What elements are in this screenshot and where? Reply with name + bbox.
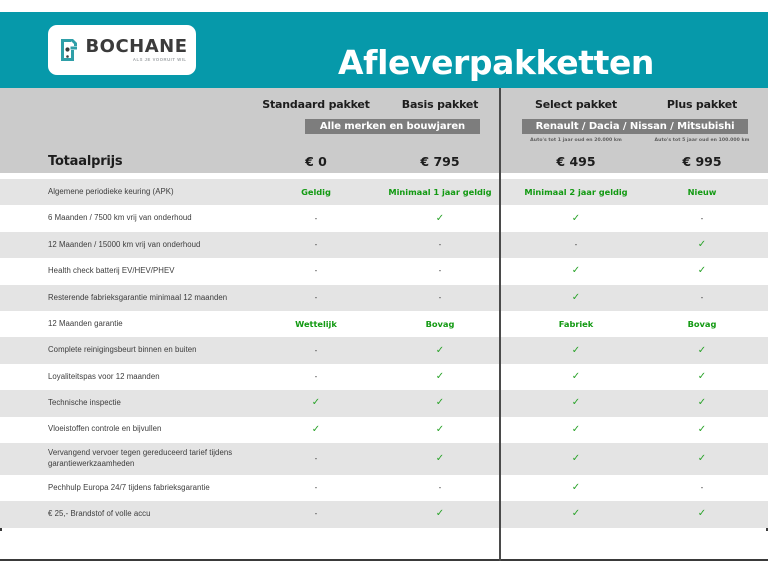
- table-row: Vloeistoffen controle en bijvullen✓✓✓✓: [0, 417, 768, 443]
- check-icon: ✓: [698, 509, 706, 519]
- check-icon: ✓: [698, 346, 706, 356]
- cell-plus: ✓: [640, 232, 764, 258]
- dash-icon: -: [315, 294, 318, 302]
- table-row: Complete reinigingsbeurt binnen en buite…: [0, 337, 768, 363]
- table-row: € 25,- Brandstof of volle accu-✓✓✓: [0, 501, 768, 527]
- cell-standaard: -: [252, 258, 380, 284]
- check-icon: ✓: [572, 425, 580, 435]
- cell-text: Minimaal 2 jaar geldig: [524, 187, 627, 197]
- dash-icon: -: [315, 484, 318, 492]
- total-price-select: € 495: [512, 150, 640, 173]
- cell-select: ✓: [512, 475, 640, 501]
- cell-plus: Bovag: [640, 311, 764, 337]
- table-row: Loyaliteitspas voor 12 maanden-✓✓✓: [0, 364, 768, 390]
- cell-basis: -: [380, 285, 500, 311]
- row-label: 12 Maanden / 15000 km vrij van onderhoud: [48, 232, 248, 258]
- check-icon: ✓: [436, 372, 444, 382]
- cell-standaard: -: [252, 443, 380, 475]
- check-icon: ✓: [698, 454, 706, 464]
- logo-wordmark: BOCHANE: [85, 38, 187, 56]
- cell-basis: -: [380, 475, 500, 501]
- check-icon: ✓: [312, 398, 320, 408]
- table-row: Algemene periodieke keuring (APK)GeldigM…: [0, 179, 768, 205]
- check-icon: ✓: [698, 240, 706, 250]
- row-label: Complete reinigingsbeurt binnen en buite…: [48, 337, 248, 363]
- row-label: Health check batterij EV/HEV/PHEV: [48, 258, 248, 284]
- cell-plus: ✓: [640, 443, 764, 475]
- dash-icon: -: [315, 373, 318, 381]
- cell-text: Wettelijk: [295, 319, 337, 329]
- total-price-label: Totaalprijs: [48, 150, 122, 173]
- row-label: Loyaliteitspas voor 12 maanden: [48, 364, 248, 390]
- cell-text: Fabriek: [559, 319, 593, 329]
- table-body: Algemene periodieke keuring (APK)GeldigM…: [0, 179, 768, 528]
- dash-icon: -: [439, 267, 442, 275]
- check-icon: ✓: [572, 454, 580, 464]
- cell-basis: ✓: [380, 390, 500, 416]
- check-icon: ✓: [572, 398, 580, 408]
- cell-standaard: Geldig: [252, 179, 380, 205]
- cell-text: Nieuw: [688, 187, 717, 197]
- dash-icon: -: [575, 241, 578, 249]
- check-icon: ✓: [572, 509, 580, 519]
- row-label: Resterende fabrieksgarantie minimaal 12 …: [48, 285, 248, 311]
- cell-select: Fabriek: [512, 311, 640, 337]
- column-header-plus: Plus pakket: [640, 98, 764, 111]
- row-label: Pechhulp Europa 24/7 tijdens fabrieksgar…: [48, 475, 248, 501]
- dash-icon: -: [701, 215, 704, 223]
- table-row: 6 Maanden / 7500 km vrij van onderhoud-✓…: [0, 205, 768, 231]
- cell-text: Bovag: [688, 319, 717, 329]
- total-price-row: Totaalprijs € 0 € 795 € 495 € 995: [0, 150, 768, 173]
- row-label: Algemene periodieke keuring (APK): [48, 179, 248, 205]
- cell-basis: -: [380, 232, 500, 258]
- check-icon: ✓: [436, 214, 444, 224]
- column-header-standaard: Standaard pakket: [252, 98, 380, 111]
- cell-plus: ✓: [640, 501, 764, 527]
- cell-select: ✓: [512, 501, 640, 527]
- cell-basis: ✓: [380, 337, 500, 363]
- cell-basis: ✓: [380, 364, 500, 390]
- cell-plus: ✓: [640, 258, 764, 284]
- row-label: Technische inspectie: [48, 390, 248, 416]
- check-icon: ✓: [436, 398, 444, 408]
- check-icon: ✓: [572, 483, 580, 493]
- dash-icon: -: [439, 241, 442, 249]
- dash-icon: -: [315, 455, 318, 463]
- cell-select: ✓: [512, 285, 640, 311]
- cell-select: ✓: [512, 205, 640, 231]
- dash-icon: -: [315, 510, 318, 518]
- check-icon: ✓: [698, 266, 706, 276]
- cell-basis: ✓: [380, 443, 500, 475]
- cell-select: ✓: [512, 390, 640, 416]
- cell-plus: ✓: [640, 364, 764, 390]
- check-icon: ✓: [572, 372, 580, 382]
- check-icon: ✓: [572, 293, 580, 303]
- cell-select: ✓: [512, 337, 640, 363]
- check-icon: ✓: [436, 509, 444, 519]
- cell-standaard: Wettelijk: [252, 311, 380, 337]
- dash-icon: -: [315, 347, 318, 355]
- cell-plus: ✓: [640, 390, 764, 416]
- cell-select: -: [512, 232, 640, 258]
- check-icon: ✓: [572, 346, 580, 356]
- table-row: Health check batterij EV/HEV/PHEV--✓✓: [0, 258, 768, 284]
- dash-icon: -: [701, 294, 704, 302]
- check-icon: ✓: [572, 214, 580, 224]
- check-icon: ✓: [312, 425, 320, 435]
- dash-icon: -: [439, 484, 442, 492]
- total-price-basis: € 795: [380, 150, 500, 173]
- table-row: 12 Maanden garantieWettelijkBovagFabriek…: [0, 311, 768, 337]
- row-label: 6 Maanden / 7500 km vrij van onderhoud: [48, 205, 248, 231]
- group-label-merken-renault: Renault / Dacia / Nissan / Mitsubishi: [522, 119, 748, 134]
- cell-standaard: ✓: [252, 390, 380, 416]
- cell-plus: -: [640, 205, 764, 231]
- table-header: Standaard pakket Basis pakket Select pak…: [0, 88, 768, 173]
- check-icon: ✓: [436, 425, 444, 435]
- cell-standaard: -: [252, 475, 380, 501]
- row-label: Vervangend vervoer tegen gereduceerd tar…: [48, 443, 248, 475]
- check-icon: ✓: [572, 266, 580, 276]
- cell-plus: -: [640, 285, 764, 311]
- cell-text: Geldig: [301, 187, 331, 197]
- cell-select: Minimaal 2 jaar geldig: [512, 179, 640, 205]
- check-icon: ✓: [698, 398, 706, 408]
- table-row: Pechhulp Europa 24/7 tijdens fabrieksgar…: [0, 475, 768, 501]
- header-banner: BOCHANE ALS JE VOORUIT WIL Afleverpakket…: [0, 12, 768, 88]
- cell-select: ✓: [512, 417, 640, 443]
- dash-icon: -: [315, 215, 318, 223]
- bochane-logo: BOCHANE ALS JE VOORUIT WIL: [48, 25, 196, 75]
- check-icon: ✓: [436, 454, 444, 464]
- cell-plus: ✓: [640, 417, 764, 443]
- table-row: Resterende fabrieksgarantie minimaal 12 …: [0, 285, 768, 311]
- cell-basis: Bovag: [380, 311, 500, 337]
- total-price-standaard: € 0: [252, 150, 380, 173]
- cell-plus: ✓: [640, 337, 764, 363]
- cell-text: Minimaal 1 jaar geldig: [388, 187, 491, 197]
- column-header-basis: Basis pakket: [380, 98, 500, 111]
- cell-standaard: -: [252, 337, 380, 363]
- cell-basis: ✓: [380, 501, 500, 527]
- table-row: Vervangend vervoer tegen gereduceerd tar…: [0, 443, 768, 475]
- dash-icon: -: [701, 484, 704, 492]
- cell-standaard: -: [252, 285, 380, 311]
- cell-select: ✓: [512, 258, 640, 284]
- check-icon: ✓: [698, 372, 706, 382]
- cell-plus: Nieuw: [640, 179, 764, 205]
- table-row: Technische inspectie✓✓✓✓: [0, 390, 768, 416]
- column-note-plus: Auto's tot 5 jaar oud en 100.000 km: [640, 138, 764, 143]
- dash-icon: -: [315, 241, 318, 249]
- dash-icon: -: [315, 267, 318, 275]
- afleverpakketten-sheet: BOCHANE ALS JE VOORUIT WIL Afleverpakket…: [0, 0, 768, 576]
- row-label: € 25,- Brandstof of volle accu: [48, 501, 248, 527]
- table-bottom-gap: [0, 531, 768, 559]
- group-label-alle-merken: Alle merken en bouwjaren: [305, 119, 480, 134]
- cell-select: ✓: [512, 364, 640, 390]
- package-group-divider: [499, 88, 501, 561]
- column-headers: Standaard pakket Basis pakket Select pak…: [0, 98, 768, 114]
- cell-standaard: -: [252, 232, 380, 258]
- cell-standaard: -: [252, 501, 380, 527]
- check-icon: ✓: [698, 425, 706, 435]
- row-label: 12 Maanden garantie: [48, 311, 248, 337]
- total-price-plus: € 995: [640, 150, 764, 173]
- logo-tagline: ALS JE VOORUIT WIL: [133, 58, 187, 62]
- row-label: Vloeistoffen controle en bijvullen: [48, 417, 248, 443]
- check-icon: ✓: [436, 346, 444, 356]
- cell-plus: -: [640, 475, 764, 501]
- cell-basis: ✓: [380, 417, 500, 443]
- cell-basis: -: [380, 258, 500, 284]
- cell-standaard: -: [252, 205, 380, 231]
- column-note-select: Auto's tot 1 jaar oud en 20.000 km: [512, 138, 640, 143]
- cell-basis: ✓: [380, 205, 500, 231]
- bochane-logo-mark-icon: [58, 37, 80, 63]
- column-header-select: Select pakket: [512, 98, 640, 111]
- dash-icon: -: [439, 294, 442, 302]
- cell-basis: Minimaal 1 jaar geldig: [380, 179, 500, 205]
- cell-select: ✓: [512, 443, 640, 475]
- cell-standaard: -: [252, 364, 380, 390]
- cell-text: Bovag: [426, 319, 455, 329]
- cell-standaard: ✓: [252, 417, 380, 443]
- table-row: 12 Maanden / 15000 km vrij van onderhoud…: [0, 232, 768, 258]
